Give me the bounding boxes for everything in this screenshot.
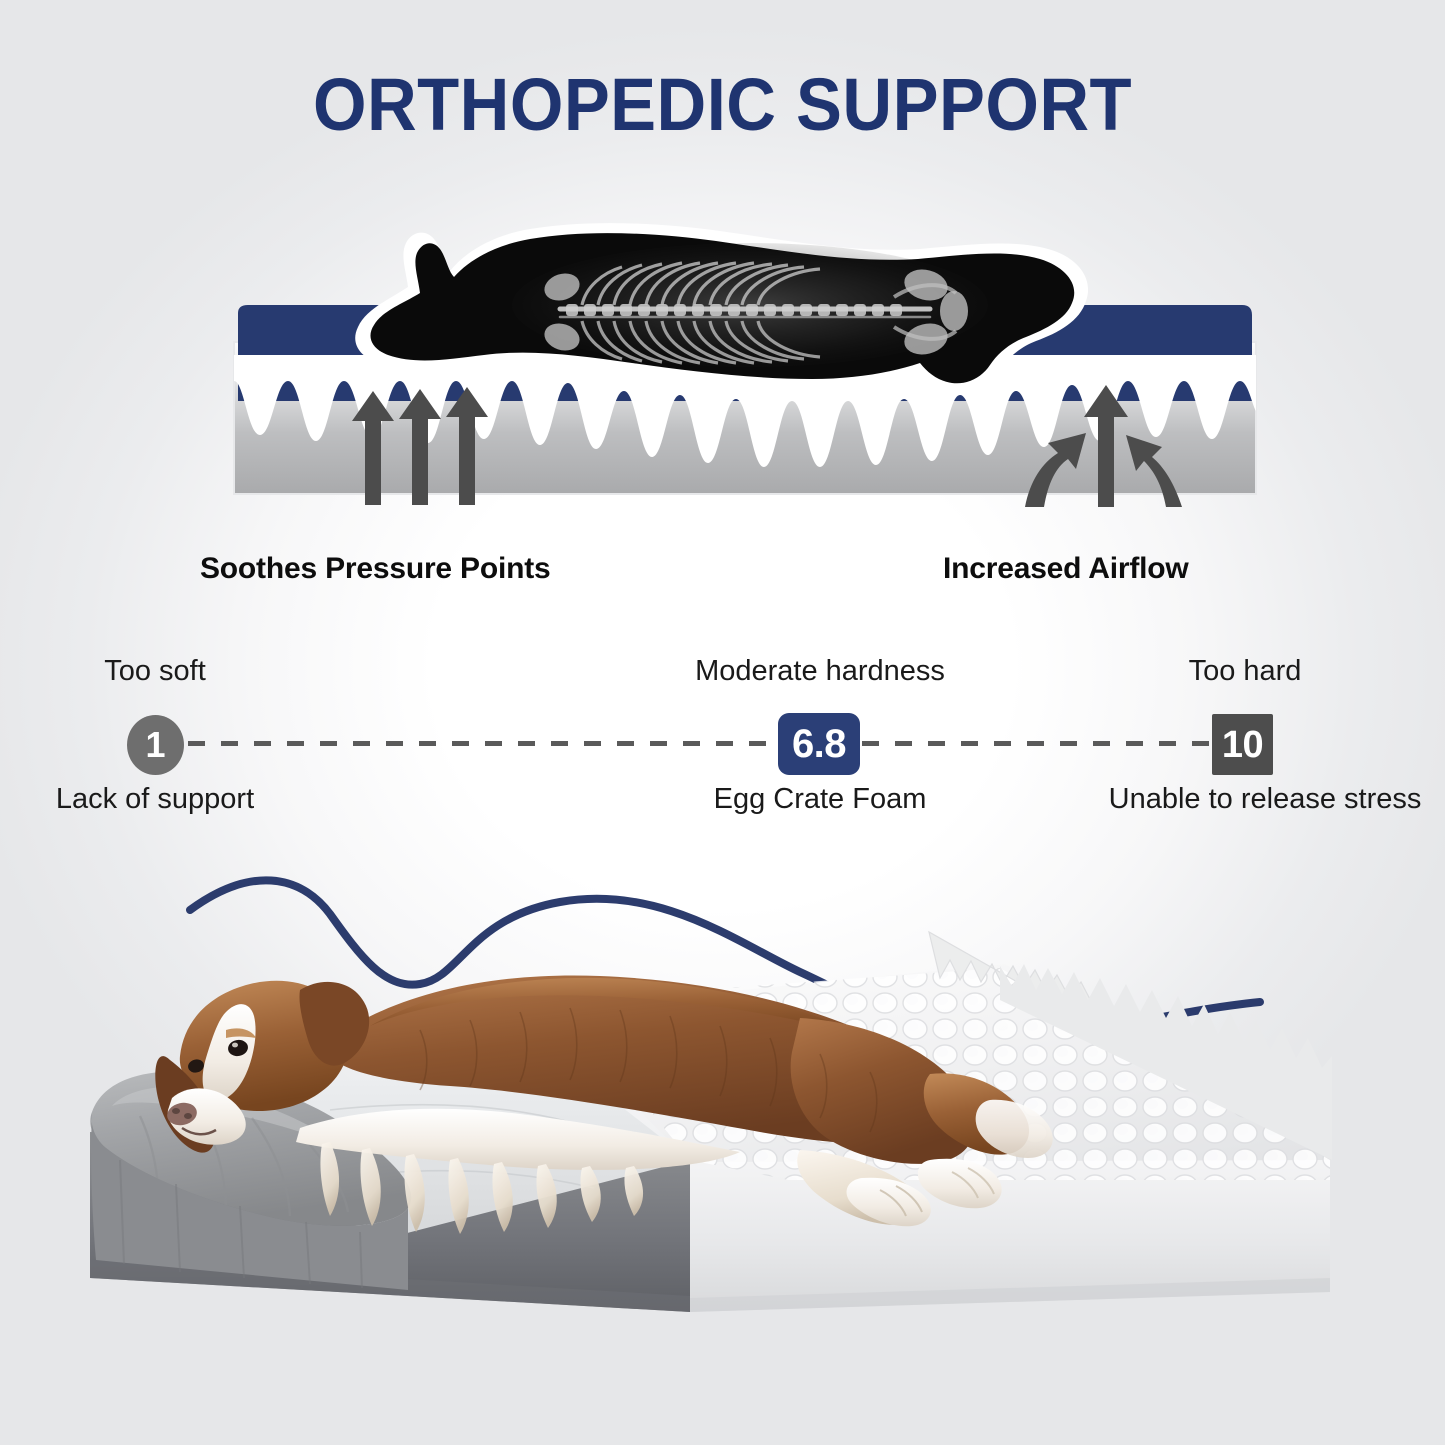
foam-block-side — [690, 1160, 1330, 1312]
soothes-pressure-points-label: Soothes Pressure Points — [200, 552, 551, 586]
scale-track-right — [862, 741, 1214, 746]
scale-label-unable-to-release-stress: Unable to release stress — [1085, 783, 1445, 816]
dog-on-orthopedic-bed-photo — [0, 860, 1445, 1445]
foam-cross-section-diagram — [230, 205, 1260, 510]
scale-badge-min: 1 — [127, 715, 184, 775]
scale-label-too-soft: Too soft — [35, 655, 275, 688]
scale-label-egg-crate-foam: Egg Crate Foam — [640, 783, 1000, 816]
increased-airflow-label: Increased Airflow — [943, 552, 1189, 586]
scale-label-moderate-hardness: Moderate hardness — [640, 655, 1000, 688]
pressure-arrows — [352, 387, 488, 505]
scale-label-too-hard: Too hard — [1115, 655, 1375, 688]
product-infographic: ORTHOPEDIC SUPPORT — [0, 0, 1445, 1445]
scale-badge-max: 10 — [1212, 714, 1273, 775]
scale-track-left — [188, 741, 806, 746]
scale-badge-value: 6.8 — [778, 713, 860, 775]
scale-label-lack-of-support: Lack of support — [35, 783, 275, 816]
page-title: ORTHOPEDIC SUPPORT — [51, 62, 1395, 147]
